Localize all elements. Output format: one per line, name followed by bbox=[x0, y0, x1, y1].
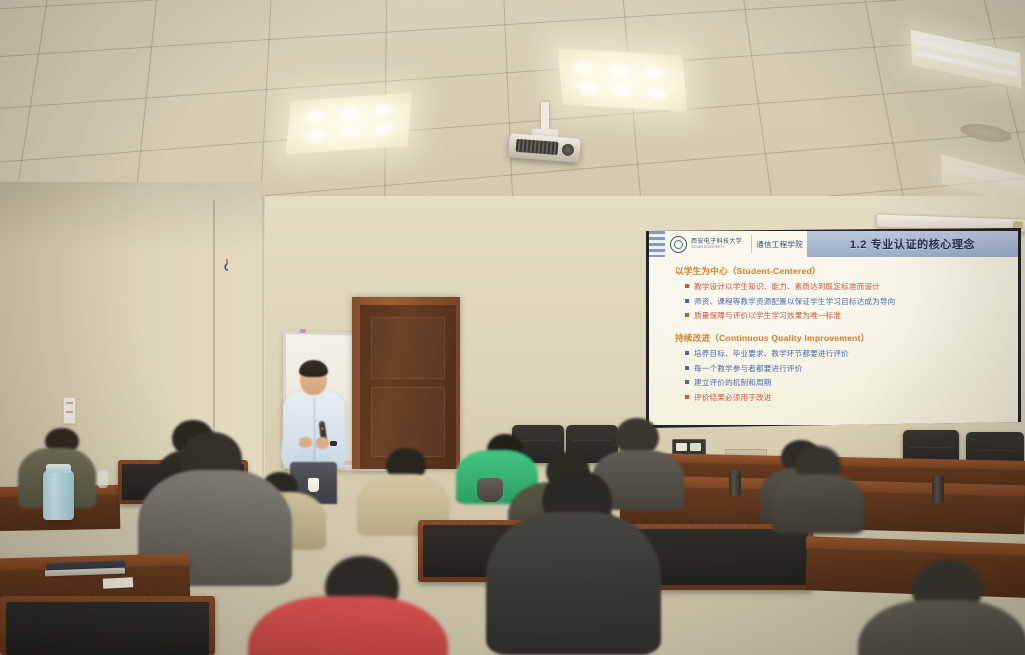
bullet-marker-icon bbox=[685, 380, 689, 384]
section-heading-1: 以学生为中心（Student-Centered） bbox=[675, 265, 1004, 277]
logo-emblem-icon bbox=[670, 236, 687, 253]
thermos-flask bbox=[43, 470, 74, 520]
bullet-text: 每一个教学参与者都要进行评价 bbox=[694, 363, 802, 374]
bullet-item: 质量保障与评价以学生学习效果为唯一标准 bbox=[685, 310, 1004, 321]
bullet-marker-icon bbox=[685, 299, 689, 303]
bullet-item: 教学设计以学生知识、能力、素质达到既定标准而设计 bbox=[685, 281, 1004, 292]
presenter-hand bbox=[299, 437, 312, 448]
presentation-slide: 西安电子科技大学 XIDIAN UNIVERSITY 通信工程学院 1.2 专业… bbox=[649, 231, 1018, 425]
bullet-marker-icon bbox=[685, 366, 689, 370]
handbag bbox=[477, 478, 503, 502]
ceiling-light-panel bbox=[286, 93, 412, 155]
audience-torso bbox=[248, 596, 448, 655]
bullet-text: 建立评价的机制和周期 bbox=[694, 377, 771, 388]
bullet-text: 评价结果必须用于改进 bbox=[694, 392, 771, 403]
slide-header: 西安电子科技大学 XIDIAN UNIVERSITY 通信工程学院 1.2 专业… bbox=[649, 231, 1018, 257]
water-bottle bbox=[932, 475, 944, 503]
section-heading-2: 持续改进（Continuous Quality Improvement） bbox=[675, 332, 1004, 344]
water-bottle bbox=[98, 470, 108, 488]
water-bottle bbox=[729, 470, 741, 496]
wall-hook-icon bbox=[222, 258, 232, 277]
bullet-text: 师资、课程等教学资源配置以保证学生学习目标达成为导向 bbox=[694, 296, 895, 307]
university-logo: 西安电子科技大学 XIDIAN UNIVERSITY bbox=[665, 231, 747, 257]
slide-body: 以学生为中心（Student-Centered） 教学设计以学生知识、能力、素质… bbox=[675, 265, 1004, 417]
whiteboard-magnet bbox=[300, 329, 306, 333]
wall-shadow bbox=[0, 182, 265, 252]
paper-cup bbox=[308, 478, 319, 492]
bullet-item: 培养目标、毕业要求、教学环节都要进行评价 bbox=[685, 348, 1004, 359]
audience-torso bbox=[772, 474, 864, 534]
thermos-cap bbox=[46, 464, 71, 473]
bench-back bbox=[0, 596, 215, 655]
ceiling-light-panel bbox=[558, 49, 688, 112]
slide-title: 1.2 专业认证的核心理念 bbox=[850, 236, 975, 252]
wall-notice bbox=[63, 397, 76, 424]
bullet-item: 建立评价的机制和周期 bbox=[685, 377, 1004, 388]
bullet-item: 评价结果必须用于改进 bbox=[685, 392, 1004, 403]
bullet-item: 每一个教学参与者都要进行评价 bbox=[685, 363, 1004, 374]
presenter-hair bbox=[299, 360, 328, 377]
projection-screen: 西安电子科技大学 XIDIAN UNIVERSITY 通信工程学院 1.2 专业… bbox=[646, 228, 1021, 428]
bullet-marker-icon bbox=[685, 395, 689, 399]
audience-torso bbox=[486, 512, 661, 655]
lecture-room-photo: 西安电子科技大学 XIDIAN UNIVERSITY 通信工程学院 1.2 专业… bbox=[0, 0, 1025, 655]
wristwatch bbox=[330, 441, 337, 446]
header-stripes bbox=[649, 231, 665, 257]
bullet-text: 培养目标、毕业要求、教学环节都要进行评价 bbox=[694, 348, 849, 359]
wall-corner-edge bbox=[262, 196, 264, 476]
header-divider bbox=[751, 235, 752, 253]
bullet-marker-icon bbox=[685, 284, 689, 288]
bullet-item: 师资、课程等教学资源配置以保证学生学习目标达成为导向 bbox=[685, 296, 1004, 307]
bullet-marker-icon bbox=[685, 351, 689, 355]
department-name: 通信工程学院 bbox=[756, 239, 803, 250]
audience-torso bbox=[858, 600, 1025, 655]
bullet-text: 质量保障与评价以学生学习效果为唯一标准 bbox=[694, 310, 841, 321]
presenter-hand bbox=[316, 437, 329, 449]
paper-sheet bbox=[103, 577, 133, 589]
bullet-marker-icon bbox=[685, 313, 689, 317]
slide-title-banner: 1.2 专业认证的核心理念 bbox=[807, 231, 1018, 257]
bullet-text: 教学设计以学生知识、能力、素质达到既定标准而设计 bbox=[694, 281, 880, 292]
microphone-indicator-icon bbox=[321, 427, 324, 430]
logo-name-en: XIDIAN UNIVERSITY bbox=[691, 245, 742, 249]
door[interactable] bbox=[360, 305, 456, 469]
